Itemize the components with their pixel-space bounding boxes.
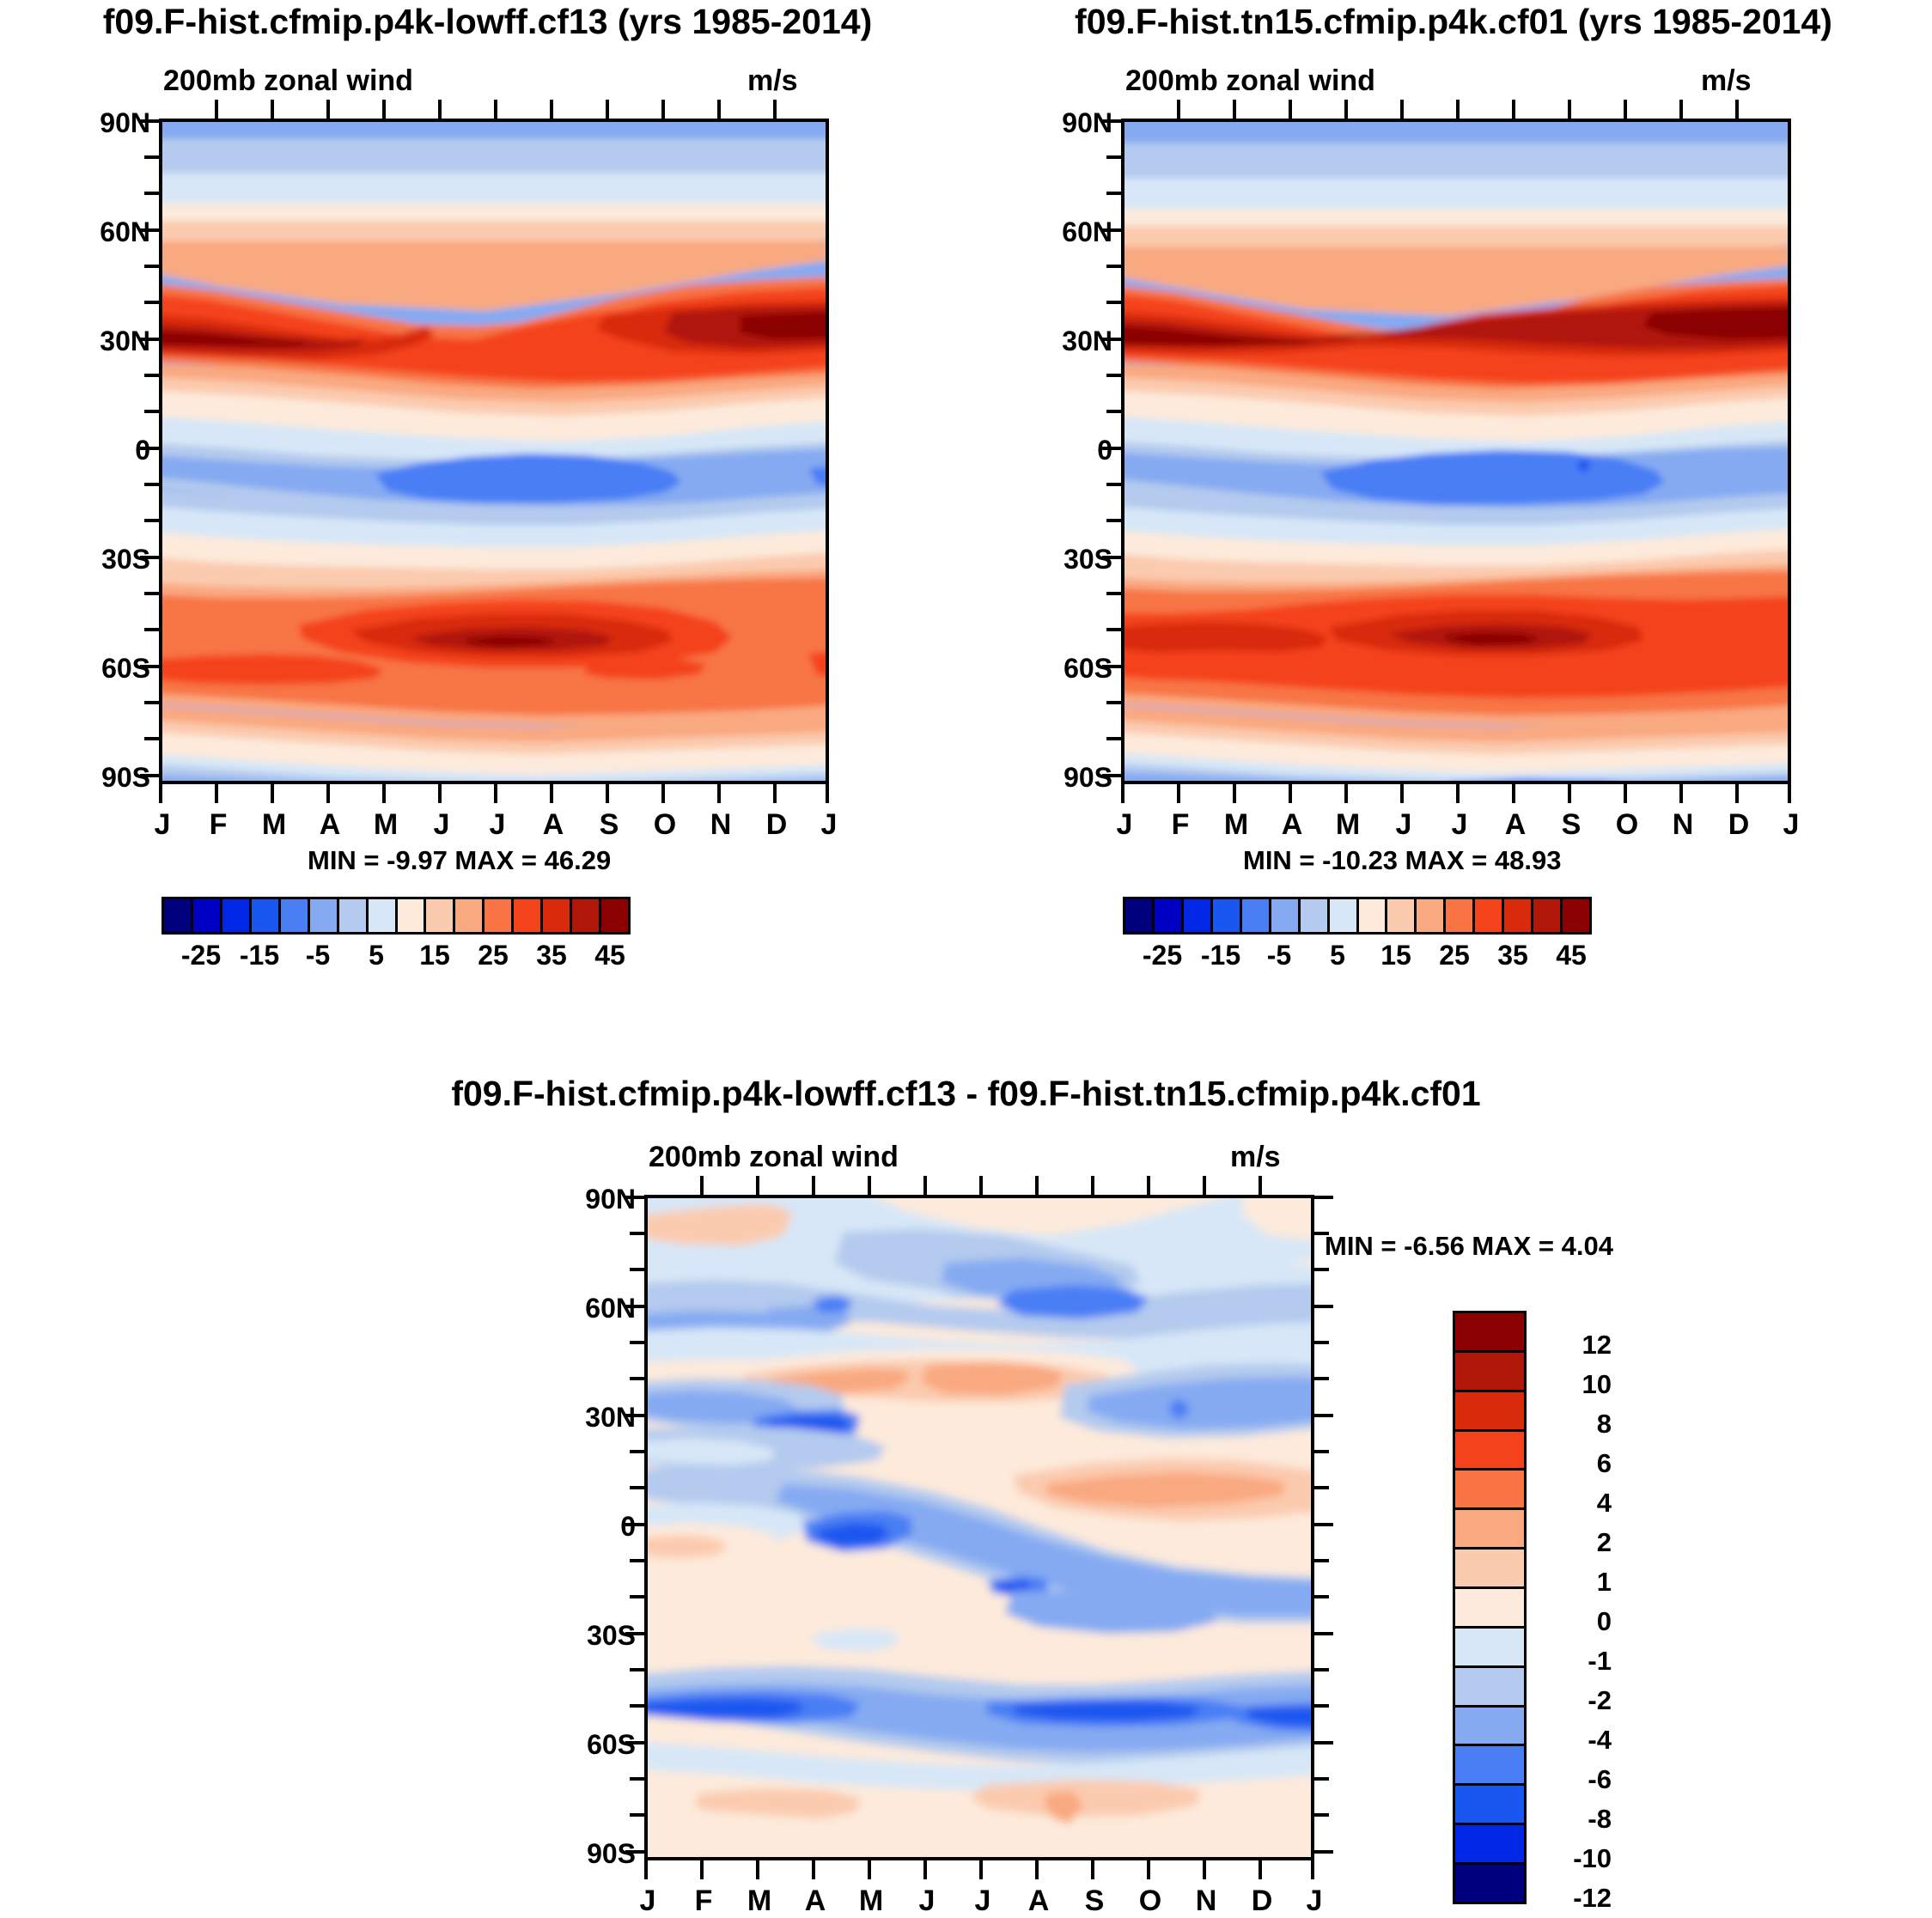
x-axis-label-nov: N: [693, 808, 748, 842]
colorbar-swatch: [1455, 1786, 1524, 1825]
x-tick: [1233, 784, 1236, 803]
x-tick-top: [326, 100, 330, 119]
y-axis-label-30s: 30S: [52, 544, 150, 575]
contour-plot-right: [1121, 119, 1791, 784]
panel-left-subtitle: 200mb zonal wind: [163, 64, 413, 98]
colorbar-swatch: [339, 899, 369, 932]
x-axis-label-oct: O: [1123, 1885, 1178, 1918]
panel-left-units: m/s: [747, 64, 798, 98]
colorbar-swatch: [1455, 1432, 1524, 1471]
colorbar-label: -10: [1534, 1843, 1612, 1874]
y-tick-minor: [144, 265, 159, 268]
panel-right-subtitle: 200mb zonal wind: [1125, 64, 1375, 98]
y-tick-right-minor: [1314, 1377, 1329, 1380]
colorbar-label: 4: [1534, 1488, 1612, 1519]
x-tick: [494, 784, 497, 803]
y-tick-minor: [1106, 483, 1121, 486]
x-tick: [812, 1860, 815, 1879]
y-tick-minor: [630, 1341, 644, 1344]
colorbar-label: -5: [288, 940, 348, 971]
x-tick-top: [1679, 100, 1683, 119]
x-tick: [923, 1860, 927, 1879]
colorbar-label: 10: [1534, 1369, 1612, 1400]
x-tick-top: [1512, 100, 1515, 119]
x-tick-top: [773, 100, 777, 119]
colorbar-label: 15: [1366, 940, 1426, 971]
colorbar-label: 35: [1483, 940, 1543, 971]
x-tick: [326, 784, 330, 803]
colorbar-swatch: [485, 899, 514, 932]
panel-right-minmax: MIN = -10.23 MAX = 48.93: [1243, 845, 1561, 876]
y-tick: [625, 1196, 644, 1199]
x-axis-label-nov: N: [1655, 808, 1710, 842]
colorbar-swatch: [1455, 1470, 1524, 1510]
colorbar-label: -2: [1534, 1685, 1612, 1716]
y-axis-label-30s: 30S: [537, 1620, 636, 1652]
y-tick-right: [1314, 1414, 1333, 1417]
y-tick-right-minor: [1314, 1704, 1329, 1708]
y-tick-minor: [1106, 192, 1121, 195]
x-axis-label-may: M: [844, 1885, 899, 1918]
x-tick-top: [1203, 1176, 1206, 1195]
x-axis-label-feb: F: [191, 808, 246, 842]
y-tick: [1102, 338, 1121, 341]
x-axis-label-may: M: [1320, 808, 1375, 842]
panel-right-title: f09.F-hist.tn15.cfmip.p4k.cf01 (yrs 1985…: [975, 2, 1932, 42]
x-tick-top: [606, 100, 609, 119]
y-tick: [625, 1850, 644, 1854]
x-axis-label-jun: J: [899, 1885, 954, 1918]
y-tick: [140, 774, 159, 777]
x-axis-label-jan: J: [620, 1885, 675, 1918]
y-tick-minor: [144, 737, 159, 740]
colorbar-label: -8: [1534, 1804, 1612, 1835]
panel-right-units: m/s: [1701, 64, 1752, 98]
y-tick-right: [1314, 1741, 1333, 1744]
colorbar-swatch: [1125, 899, 1155, 932]
y-tick-right-minor: [1314, 1595, 1329, 1598]
y-tick-minor: [630, 1559, 644, 1562]
colorbar-swatch: [1387, 899, 1417, 932]
y-tick: [140, 556, 159, 559]
x-tick: [1121, 784, 1124, 803]
x-tick-top: [1624, 100, 1627, 119]
x-tick-top: [494, 100, 497, 119]
x-tick: [1311, 1860, 1314, 1879]
y-axis-label-90s: 90S: [537, 1838, 636, 1870]
colorbar-swatch: [1271, 899, 1301, 932]
y-tick-minor: [144, 519, 159, 522]
colorbar-swatch: [1455, 1668, 1524, 1708]
contour-plot-left: [159, 119, 829, 784]
y-axis-label-30n: 30N: [1014, 326, 1112, 357]
x-axis-label-apr: A: [788, 1885, 843, 1918]
x-tick-top: [717, 100, 721, 119]
x-axis-label-jan: J: [135, 808, 190, 842]
y-tick-minor: [630, 1704, 644, 1708]
colorbar-label: 5: [1307, 940, 1368, 971]
y-tick-minor: [1106, 701, 1121, 704]
x-tick-top: [700, 1176, 704, 1195]
y-tick: [1102, 119, 1121, 123]
x-tick: [215, 784, 218, 803]
x-tick: [1147, 1860, 1150, 1879]
colorbar-swatch: [543, 899, 572, 932]
x-axis-label-jul: J: [1432, 808, 1487, 842]
y-tick-right: [1314, 1196, 1333, 1199]
x-tick-top: [1177, 100, 1180, 119]
y-axis-label-0: 0: [1014, 435, 1112, 466]
x-tick: [382, 784, 386, 803]
x-tick: [1679, 784, 1683, 803]
colorbar-swatch: [1455, 1313, 1524, 1353]
x-axis-label-dec: D: [1711, 808, 1766, 842]
x-tick-top: [1233, 100, 1236, 119]
colorbar-label: -12: [1534, 1883, 1612, 1914]
colorbar-swatch: [1301, 899, 1330, 932]
x-tick: [1735, 784, 1739, 803]
x-axis-label-feb: F: [676, 1885, 731, 1918]
x-tick-top: [382, 100, 386, 119]
colorbar-swatch: [1533, 899, 1563, 932]
x-tick-top: [1568, 100, 1571, 119]
x-tick-top: [1091, 1176, 1094, 1195]
x-tick: [979, 1860, 983, 1879]
x-tick: [271, 784, 274, 803]
x-tick-top: [1344, 100, 1348, 119]
x-axis-label-jan2: J: [1764, 808, 1819, 842]
y-tick-minor: [144, 301, 159, 304]
y-tick: [1102, 556, 1121, 559]
colorbar-swatch: [1359, 899, 1388, 932]
y-tick-right: [1314, 1305, 1333, 1308]
y-tick-right: [1314, 1850, 1333, 1854]
y-tick-right: [1314, 1523, 1333, 1526]
colorbar-label: 0: [1534, 1606, 1612, 1637]
y-tick-minor: [1106, 301, 1121, 304]
colorbar-swatch: [222, 899, 252, 932]
colorbar-swatch: [1213, 899, 1242, 932]
x-tick: [717, 784, 721, 803]
colorbar-label: 2: [1534, 1527, 1612, 1558]
y-tick-right-minor: [1314, 1450, 1329, 1453]
x-tick-top: [812, 1176, 815, 1195]
x-tick: [1177, 784, 1180, 803]
x-tick: [756, 1860, 759, 1879]
y-tick-right-minor: [1314, 1813, 1329, 1817]
y-tick-minor: [1106, 265, 1121, 268]
y-tick-minor: [144, 628, 159, 631]
x-tick: [1456, 784, 1460, 803]
y-axis-label-90n: 90N: [1014, 107, 1112, 139]
colorbar-label: -15: [229, 940, 289, 971]
x-axis-label-jan2: J: [801, 808, 856, 842]
colorbar-swatch: [455, 899, 485, 932]
colorbar-label: 6: [1534, 1448, 1612, 1479]
colorbar-swatch: [1455, 1629, 1524, 1668]
x-tick: [438, 784, 442, 803]
colorbar-label: 25: [1424, 940, 1484, 971]
panel-difference-title: f09.F-hist.cfmip.p4k-lowff.cf13 - f09.F-…: [0, 1074, 1932, 1114]
colorbar-swatch: [1455, 1392, 1524, 1432]
colorbar-label: 1: [1534, 1567, 1612, 1598]
y-tick: [140, 338, 159, 341]
colorbar-left: [162, 897, 631, 935]
y-tick: [625, 1632, 644, 1635]
y-tick-minor: [630, 1268, 644, 1271]
x-axis-label-sep: S: [1544, 808, 1599, 842]
x-tick: [700, 1860, 704, 1879]
colorbar-label: -4: [1534, 1725, 1612, 1756]
colorbar-swatch: [164, 899, 193, 932]
x-axis-label-jul: J: [955, 1885, 1010, 1918]
x-axis-label-sep: S: [582, 808, 637, 842]
y-tick: [140, 119, 159, 123]
x-axis-label-apr: A: [302, 808, 357, 842]
x-axis-label-nov: N: [1179, 1885, 1234, 1918]
colorbar-swatch: [1446, 899, 1475, 932]
colorbar-swatch: [1242, 899, 1271, 932]
x-tick-top: [1735, 100, 1739, 119]
colorbar-label: 12: [1534, 1330, 1612, 1361]
y-tick-minor: [630, 1232, 644, 1235]
y-tick: [140, 228, 159, 232]
y-axis-label-60n: 60N: [537, 1293, 636, 1324]
y-tick-minor: [144, 483, 159, 486]
x-tick: [1788, 784, 1791, 803]
x-tick-top: [1456, 100, 1460, 119]
colorbar-difference: [1453, 1311, 1527, 1904]
y-tick: [1102, 665, 1121, 668]
x-axis-label-may: M: [358, 808, 413, 842]
x-tick: [826, 784, 829, 803]
colorbar-swatch: [1455, 1708, 1524, 1747]
y-tick: [1102, 228, 1121, 232]
colorbar-swatch: [1417, 899, 1446, 932]
y-tick-minor: [630, 1813, 644, 1817]
colorbar-label: 8: [1534, 1409, 1612, 1440]
y-axis-label-90n: 90N: [537, 1184, 636, 1215]
colorbar-swatch: [310, 899, 339, 932]
x-tick: [868, 1860, 871, 1879]
y-tick-right-minor: [1314, 1559, 1329, 1562]
y-tick-right-minor: [1314, 1668, 1329, 1671]
colorbar-swatch: [252, 899, 281, 932]
colorbar-label: 25: [463, 940, 523, 971]
x-axis-label-aug: A: [1011, 1885, 1066, 1918]
x-axis-label-oct: O: [637, 808, 692, 842]
panel-difference-minmax: MIN = -6.56 MAX = 4.04: [1325, 1231, 1613, 1262]
y-tick: [625, 1414, 644, 1417]
colorbar-swatch: [1330, 899, 1359, 932]
x-tick-top: [1400, 100, 1404, 119]
colorbar-swatch: [426, 899, 455, 932]
x-tick-top: [661, 100, 665, 119]
colorbar-label: 45: [1541, 940, 1601, 971]
y-tick-minor: [630, 1595, 644, 1598]
x-tick: [159, 784, 162, 803]
y-tick: [1102, 774, 1121, 777]
x-axis-label-aug: A: [526, 808, 581, 842]
y-tick-right: [1314, 1632, 1333, 1635]
x-tick: [1289, 784, 1292, 803]
colorbar-swatch: [1155, 899, 1184, 932]
x-tick-top: [271, 100, 274, 119]
panel-left-minmax: MIN = -9.97 MAX = 46.29: [308, 845, 611, 876]
y-tick-right-minor: [1314, 1777, 1329, 1781]
y-tick-minor: [1106, 628, 1121, 631]
y-tick-minor: [630, 1486, 644, 1489]
x-axis-label-apr: A: [1265, 808, 1319, 842]
x-tick: [1344, 784, 1348, 803]
y-tick-minor: [1106, 374, 1121, 377]
colorbar-label: -1: [1534, 1646, 1612, 1677]
colorbar-swatch: [398, 899, 427, 932]
colorbar-label: -25: [171, 940, 231, 971]
colorbar-swatch: [369, 899, 398, 932]
y-tick-right-minor: [1314, 1268, 1329, 1271]
colorbar-label: 15: [405, 940, 465, 971]
x-tick-top: [1035, 1176, 1039, 1195]
colorbar-swatch: [1455, 1865, 1524, 1902]
colorbar-swatch: [1504, 899, 1533, 932]
x-axis-label-feb: F: [1153, 808, 1208, 842]
colorbar-swatch: [1563, 899, 1589, 932]
x-tick: [606, 784, 609, 803]
y-tick-minor: [1106, 410, 1121, 413]
y-tick: [625, 1741, 644, 1744]
colorbar-swatch: [601, 899, 628, 932]
y-axis-label-60s: 60S: [52, 653, 150, 685]
x-tick: [1400, 784, 1404, 803]
x-tick: [773, 784, 777, 803]
y-axis-label-30n: 30N: [52, 326, 150, 357]
x-tick-top: [1289, 100, 1292, 119]
y-axis-label-90s: 90S: [1014, 762, 1112, 794]
x-axis-label-jan: J: [1097, 808, 1152, 842]
panel-difference-subtitle: 200mb zonal wind: [649, 1141, 899, 1174]
y-tick: [625, 1305, 644, 1308]
x-tick: [1568, 784, 1571, 803]
x-axis-label-dec: D: [749, 808, 804, 842]
colorbar-swatch: [514, 899, 543, 932]
colorbar-label: -5: [1249, 940, 1309, 971]
colorbar-swatch: [1475, 899, 1504, 932]
colorbar-label: 35: [521, 940, 582, 971]
y-tick-minor: [144, 592, 159, 595]
colorbar-swatch: [1455, 1353, 1524, 1392]
x-axis-label-jun: J: [1376, 808, 1431, 842]
colorbar-label: -6: [1534, 1764, 1612, 1795]
colorbar-swatch: [1455, 1589, 1524, 1629]
y-tick-minor: [144, 410, 159, 413]
x-tick: [1512, 784, 1515, 803]
x-axis-label-mar: M: [1209, 808, 1264, 842]
x-tick: [1091, 1860, 1094, 1879]
x-tick-top: [1147, 1176, 1150, 1195]
x-tick: [644, 1860, 648, 1879]
x-tick: [1259, 1860, 1262, 1879]
colorbar-swatch: [1455, 1510, 1524, 1550]
contour-plot-difference: [644, 1195, 1314, 1860]
y-tick-minor: [144, 374, 159, 377]
x-tick: [1035, 1860, 1039, 1879]
x-axis-label-sep: S: [1067, 1885, 1122, 1918]
panel-left-title: f09.F-hist.cfmip.p4k-lowff.cf13 (yrs 198…: [0, 2, 975, 42]
x-tick: [1203, 1860, 1206, 1879]
x-tick-top: [756, 1176, 759, 1195]
colorbar-swatch: [1184, 899, 1213, 932]
x-axis-label-oct: O: [1600, 808, 1655, 842]
y-tick: [140, 665, 159, 668]
y-tick: [625, 1523, 644, 1526]
y-tick-minor: [1106, 592, 1121, 595]
y-axis-label-60n: 60N: [52, 216, 150, 248]
x-tick-top: [550, 100, 553, 119]
x-tick-top: [1259, 1176, 1262, 1195]
colorbar-swatch: [572, 899, 601, 932]
colorbar-swatch: [1455, 1746, 1524, 1786]
colorbar-label: 5: [346, 940, 406, 971]
x-axis-label-jul: J: [470, 808, 525, 842]
y-tick-minor: [630, 1377, 644, 1380]
panel-difference-units: m/s: [1230, 1141, 1281, 1174]
y-axis-label-0: 0: [537, 1511, 636, 1543]
y-tick-minor: [144, 701, 159, 704]
x-tick-top: [868, 1176, 871, 1195]
y-tick-minor: [630, 1668, 644, 1671]
y-tick-right-minor: [1314, 1486, 1329, 1489]
y-axis-label-60n: 60N: [1014, 216, 1112, 248]
y-tick-minor: [630, 1777, 644, 1781]
x-tick-top: [215, 100, 218, 119]
y-axis-label-90n: 90N: [52, 107, 150, 139]
y-tick-minor: [1106, 519, 1121, 522]
colorbar-swatch: [1455, 1550, 1524, 1589]
y-tick-right-minor: [1314, 1341, 1329, 1344]
y-tick: [1102, 447, 1121, 450]
y-axis-label-60s: 60S: [537, 1729, 636, 1761]
x-tick: [550, 784, 553, 803]
x-axis-label-mar: M: [247, 808, 302, 842]
y-tick-minor: [1106, 737, 1121, 740]
colorbar-label: -25: [1132, 940, 1192, 971]
x-tick-top: [979, 1176, 983, 1195]
colorbar-right: [1123, 897, 1592, 935]
x-axis-label-dec: D: [1234, 1885, 1289, 1918]
colorbar-label: 45: [580, 940, 640, 971]
y-tick-minor: [144, 155, 159, 159]
x-tick: [1624, 784, 1627, 803]
x-tick-top: [923, 1176, 927, 1195]
x-tick: [661, 784, 665, 803]
colorbar-swatch: [1455, 1825, 1524, 1865]
y-axis-label-90s: 90S: [52, 762, 150, 794]
x-axis-label-aug: A: [1488, 808, 1543, 842]
x-axis-label-jan2: J: [1287, 1885, 1342, 1918]
y-axis-label-0: 0: [52, 435, 150, 466]
y-axis-label-60s: 60S: [1014, 653, 1112, 685]
x-axis-label-mar: M: [732, 1885, 787, 1918]
x-tick-top: [438, 100, 442, 119]
y-tick-minor: [630, 1450, 644, 1453]
x-axis-label-jun: J: [414, 808, 469, 842]
y-tick-minor: [1106, 155, 1121, 159]
y-axis-label-30n: 30N: [537, 1402, 636, 1434]
colorbar-swatch: [281, 899, 310, 932]
colorbar-swatch: [193, 899, 222, 932]
y-tick: [140, 447, 159, 450]
